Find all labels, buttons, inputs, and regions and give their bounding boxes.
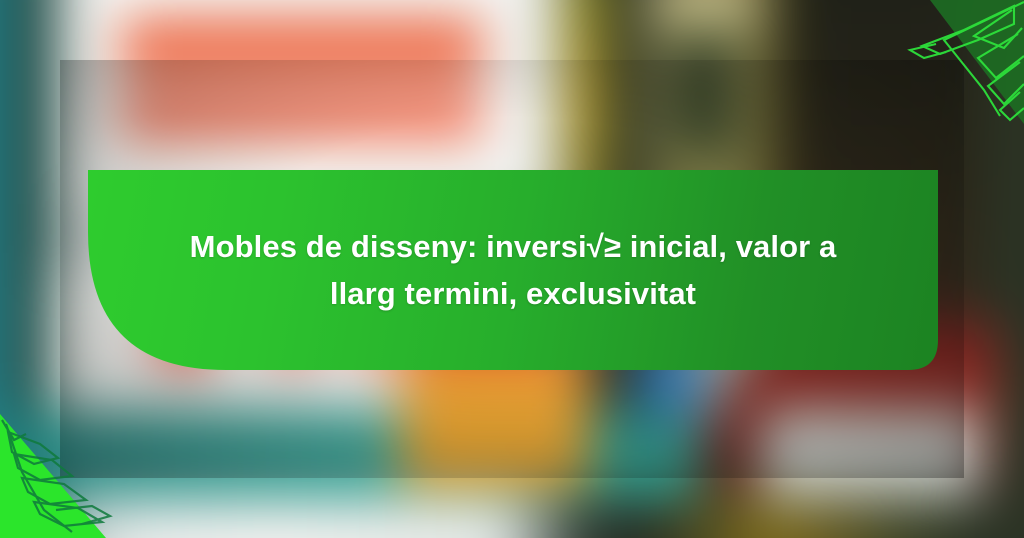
headline-text: Mobles de disseny: inversi√≥ inicial, va…	[88, 170, 938, 370]
leaf-corner-ornament-top-right	[900, 0, 1024, 124]
leaf-corner-ornament-bottom-left	[0, 414, 124, 538]
leaf-shape-6	[910, 44, 946, 58]
corner-wedge-shape	[930, 0, 1024, 124]
featured-image-card: Mobles de disseny: inversi√≥ inicial, va…	[0, 0, 1024, 538]
